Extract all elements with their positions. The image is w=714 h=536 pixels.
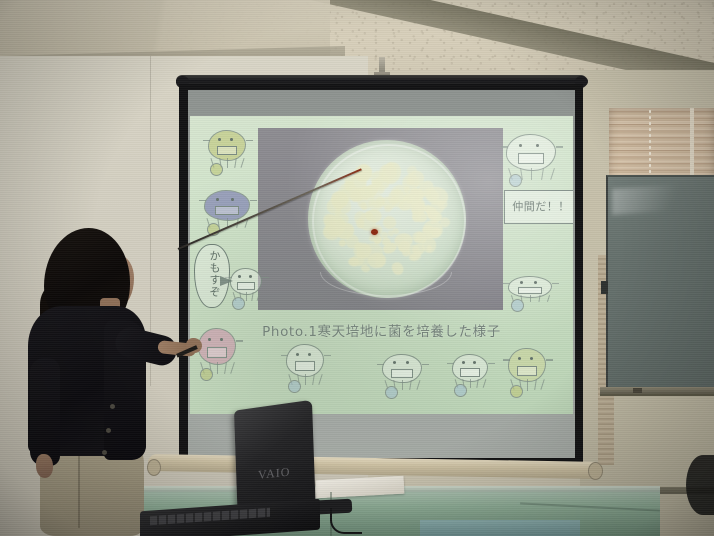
- microbe-limb: [530, 295, 531, 302]
- microbe-sign-holding-microbe: [506, 134, 558, 190]
- microbe-limb: [409, 380, 412, 390]
- microbe-limb: [538, 295, 540, 302]
- microbe-mouth: [391, 369, 412, 378]
- pointer-tip-on-dish: [371, 229, 378, 235]
- microbe-limb: [402, 380, 403, 390]
- character-sign-text: 仲間だ！！: [504, 198, 573, 214]
- board-clip: [601, 281, 608, 294]
- speech-bubble-tail: [220, 276, 233, 286]
- cardigan-button: [102, 450, 107, 455]
- spore-marker: [210, 163, 223, 176]
- microbe-mouth: [237, 282, 255, 290]
- microbe-blue-robot-microbe: [204, 190, 252, 236]
- microbe-antenna: [447, 363, 454, 364]
- microbe-limb: [246, 292, 247, 301]
- microbe-limb: [476, 379, 479, 388]
- petri-dish-agar-photo: [258, 128, 503, 310]
- spore-marker: [454, 384, 467, 397]
- microbe-mouth: [517, 366, 537, 376]
- microbe-antenna: [546, 359, 553, 360]
- microbe-mouth: [207, 347, 227, 358]
- cardigan-button: [110, 404, 115, 409]
- microbe-antenna: [501, 146, 508, 147]
- microbe-limb: [230, 362, 235, 374]
- spore-marker: [200, 368, 213, 381]
- microbe-round-microbe-right: [452, 354, 490, 396]
- photo-scene: Photo.1寒天培地に菌を培養した様子 かもすぞ 仲間だ！！: [0, 0, 714, 536]
- microbe-antenna: [236, 340, 243, 341]
- spore-marker: [510, 385, 523, 398]
- microbe-oval-microbe-right: [508, 276, 554, 308]
- microbe-antenna: [552, 283, 559, 284]
- microbe-limb: [547, 295, 550, 302]
- microbe-hand-shaped-microbe: [286, 344, 326, 394]
- microbe-mouth: [217, 146, 237, 155]
- microbe-antenna: [281, 355, 288, 356]
- microbe-antenna: [503, 283, 510, 284]
- microbe-mouth: [215, 206, 239, 215]
- marker-tray-clip: [633, 388, 642, 393]
- speech-bubble-text: かもすぞ: [199, 250, 221, 298]
- blind-cord[interactable]: [649, 110, 651, 184]
- microbe-mouth: [518, 287, 541, 294]
- spore-marker: [232, 297, 245, 310]
- microbe-limb: [417, 380, 421, 390]
- left-arm: [30, 358, 60, 466]
- microbe-limb: [251, 292, 254, 301]
- microbe-antenna: [488, 363, 495, 364]
- microbe-round-microbe-center: [382, 354, 424, 398]
- microbe-antenna: [262, 277, 269, 278]
- microbe-pink-jellyfish-microbe: [198, 328, 238, 384]
- microbe-eye: [218, 138, 221, 141]
- microbe-limb: [257, 292, 261, 301]
- spore-marker: [509, 174, 522, 187]
- microbe-antenna: [199, 200, 206, 201]
- projected-slide: Photo.1寒天培地に菌を培養した様子 かもすぞ 仲間だ！！: [190, 116, 573, 414]
- spore-marker: [288, 380, 301, 393]
- microbe-mouth: [295, 361, 315, 371]
- microbe-antenna: [503, 359, 510, 360]
- slide-caption: Photo.1寒天培地に菌を培養した様子: [190, 320, 573, 340]
- microbe-eye: [296, 353, 299, 356]
- microbe-limb: [540, 379, 545, 390]
- spore-marker: [511, 299, 524, 312]
- presenter-woman: [18, 228, 198, 536]
- spore-marker: [385, 386, 398, 399]
- table-reflection-strip: [420, 520, 580, 536]
- microbe-limb: [527, 379, 528, 390]
- microbe-limb: [531, 168, 532, 180]
- microbe-limb: [227, 158, 228, 168]
- marker-tray: [600, 387, 714, 396]
- microbe-outline-microbe-left: [230, 268, 264, 308]
- microbe-mouth: [518, 153, 544, 164]
- microbe-antenna: [377, 364, 384, 365]
- roller-cap-right: [588, 462, 603, 480]
- microbe-limb: [240, 158, 244, 168]
- microbe-limb: [483, 379, 487, 388]
- microbe-antenna: [324, 355, 331, 356]
- microbe-yellow-microbe-top-left: [208, 130, 248, 176]
- microbe-green-microbe-bottom-right: [508, 348, 548, 400]
- microbe-eye: [462, 361, 465, 364]
- microbe-eye: [249, 275, 252, 278]
- microbe-limb: [318, 374, 323, 385]
- cardigan-button: [106, 428, 111, 433]
- power-cable: [330, 508, 362, 534]
- laptop-brand-logo: VAIO: [258, 464, 294, 480]
- microbe-antenna: [556, 146, 563, 147]
- microbe-antenna: [203, 140, 210, 141]
- microbe-antenna: [246, 140, 253, 141]
- microbe-eye: [208, 338, 211, 341]
- microbe-antenna: [250, 200, 257, 201]
- microbe-limb: [217, 362, 218, 374]
- microbe-antenna: [422, 364, 429, 365]
- microbe-limb: [550, 168, 555, 180]
- microbe-eye: [220, 338, 223, 341]
- microbe-limb: [305, 374, 306, 385]
- microbe-eye: [518, 357, 521, 360]
- microbe-eye: [536, 144, 539, 147]
- left-hand: [36, 454, 53, 478]
- microbe-mouth: [460, 368, 479, 377]
- dark-object-right: [686, 455, 714, 515]
- microbe-eye: [308, 353, 311, 356]
- microbe-limb: [470, 379, 471, 388]
